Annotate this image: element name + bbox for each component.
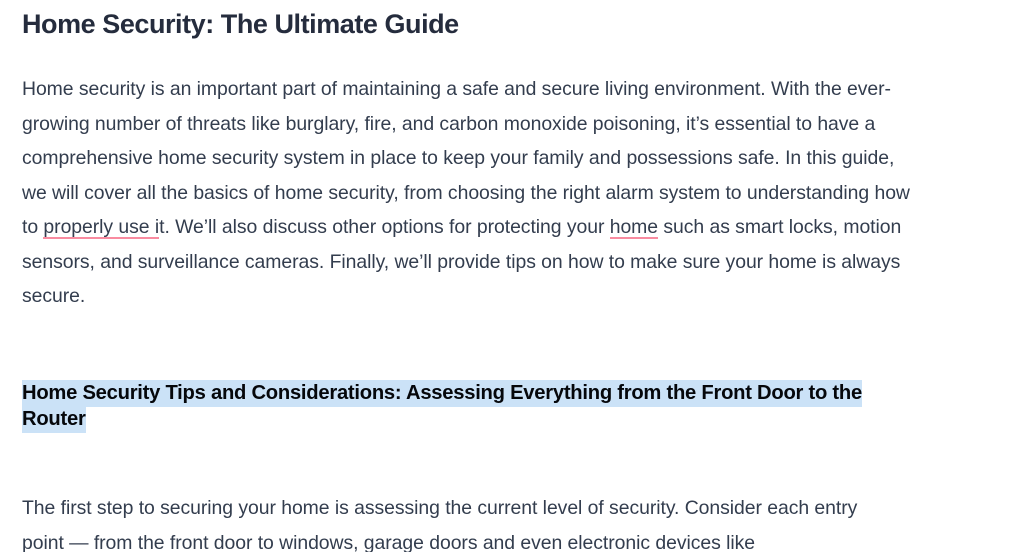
intro-text-part-1: Home security is an important part of ma… [22,78,910,238]
section-heading-selected-text[interactable]: Home Security Tips and Considerations: A… [22,380,862,433]
grammar-suggestion-properly-use-it[interactable]: properly use i [43,216,159,239]
section-heading[interactable]: Home Security Tips and Considerations: A… [22,381,912,432]
intro-text-part-2: t. We’ll also discuss other options for … [159,216,610,238]
grammar-suggestion-home[interactable]: home [610,216,658,239]
intro-paragraph[interactable]: Home security is an important part of ma… [22,72,922,314]
page-title: Home Security: The Ultimate Guide [22,6,962,42]
document-canvas[interactable]: Home Security: The Ultimate Guide Home s… [0,0,1022,552]
body-paragraph[interactable]: The first step to securing your home is … [22,491,902,552]
